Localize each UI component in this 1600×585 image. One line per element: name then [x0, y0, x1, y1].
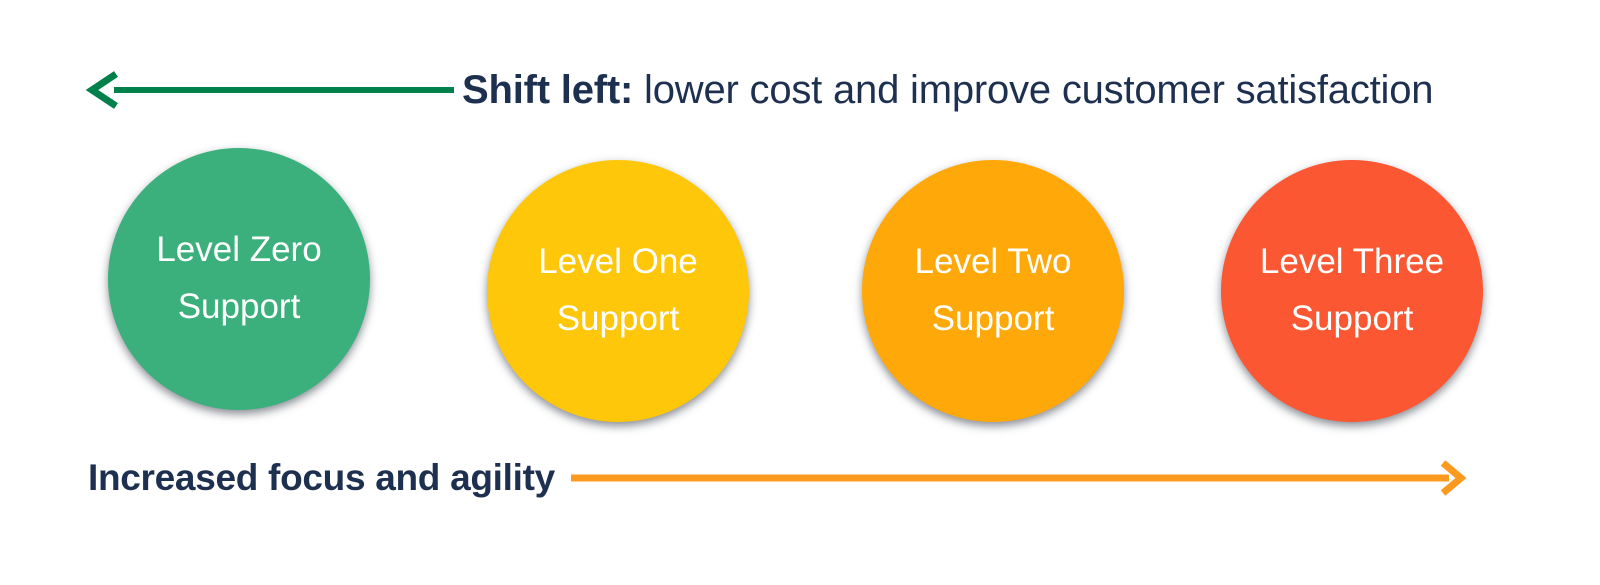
- increased-focus-annotation: Increased focus and agility: [0, 448, 1600, 508]
- support-level-circle-one[interactable]: Level One Support: [487, 160, 749, 422]
- diagram-canvas: Shift left: lower cost and improve custo…: [0, 0, 1600, 585]
- circle-label-line1: Level One: [538, 234, 698, 291]
- circle-label-line2: Support: [1291, 291, 1414, 348]
- agility-arrow: [571, 458, 1471, 498]
- support-levels: Level Zero Support Level One Support Lev…: [0, 148, 1600, 433]
- circle-label-line1: Level Three: [1260, 234, 1444, 291]
- circle-label-line2: Support: [932, 291, 1055, 348]
- shift-left-arrow: [82, 70, 454, 110]
- arrow-left-icon: [82, 70, 454, 110]
- shift-left-annotation: Shift left: lower cost and improve custo…: [0, 58, 1600, 122]
- headline-rest: lower cost and improve customer satisfac…: [633, 68, 1433, 112]
- circle-label-line1: Level Zero: [156, 222, 321, 279]
- headline-lead: Shift left:: [462, 68, 633, 112]
- arrow-right-icon: [571, 458, 1471, 498]
- support-level-circle-zero[interactable]: Level Zero Support: [108, 148, 370, 410]
- circle-label-line2: Support: [178, 279, 301, 336]
- support-level-circle-two[interactable]: Level Two Support: [862, 160, 1124, 422]
- circle-label-line2: Support: [557, 291, 680, 348]
- shift-left-headline: Shift left: lower cost and improve custo…: [462, 70, 1600, 110]
- support-level-circle-three[interactable]: Level Three Support: [1221, 160, 1483, 422]
- circle-label-line1: Level Two: [915, 234, 1072, 291]
- agility-label: Increased focus and agility: [88, 457, 555, 499]
